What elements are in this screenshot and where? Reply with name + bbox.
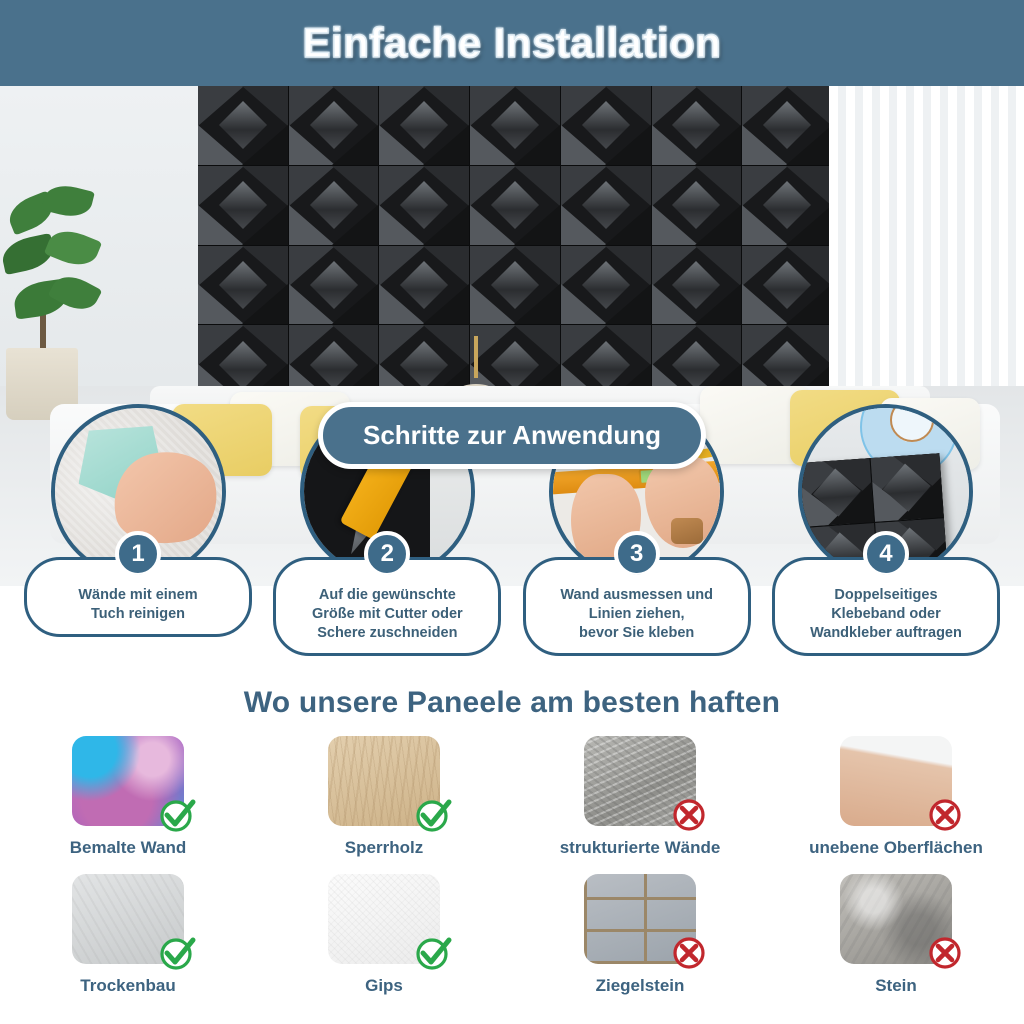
surface-item: Gips bbox=[256, 874, 512, 996]
surface-item: strukturierte Wände bbox=[512, 736, 768, 858]
caption-line: Wand ausmessen und bbox=[560, 586, 713, 605]
diamond-panel-tile bbox=[742, 86, 832, 165]
diamond-panel-tile bbox=[379, 86, 469, 165]
check-circle-icon bbox=[412, 932, 454, 974]
surface-label: Ziegelstein bbox=[596, 976, 685, 996]
diamond-panel-tile bbox=[289, 86, 379, 165]
step-1: 1 Wände mit einem Tuch reinigen bbox=[22, 404, 254, 654]
surface-label: Bemalte Wand bbox=[70, 838, 187, 858]
caption-line: bevor Sie kleben bbox=[560, 624, 713, 643]
surface-swatch-wrap bbox=[584, 736, 696, 826]
step-1-photo: 1 bbox=[51, 404, 226, 579]
hero-curtain bbox=[829, 86, 1024, 426]
diamond-panel-tile bbox=[470, 246, 560, 325]
surface-swatch-wrap bbox=[840, 874, 952, 964]
header-bar: Einfache Installation bbox=[0, 0, 1024, 86]
diamond-panel-tile bbox=[742, 166, 832, 245]
diamond-panel-tile bbox=[652, 166, 742, 245]
surface-swatch-wrap bbox=[328, 736, 440, 826]
caption-line: Größe mit Cutter oder bbox=[312, 605, 463, 624]
surface-item: Ziegelstein bbox=[512, 874, 768, 996]
step-3-number: 3 bbox=[614, 531, 660, 577]
x-circle-icon bbox=[668, 794, 710, 836]
surface-swatch-wrap bbox=[72, 736, 184, 826]
surface-item: Bemalte Wand bbox=[0, 736, 256, 858]
diamond-panel-tile bbox=[470, 86, 560, 165]
step-4-number: 4 bbox=[863, 531, 909, 577]
wristwatch-icon bbox=[671, 518, 703, 544]
caption-line: Wandkleber auftragen bbox=[810, 624, 962, 643]
surface-item: Sperrholz bbox=[256, 736, 512, 858]
diamond-panel-tile bbox=[198, 166, 288, 245]
check-circle-icon bbox=[412, 794, 454, 836]
diamond-panel-tile bbox=[561, 86, 651, 165]
caption-line: Tuch reinigen bbox=[78, 605, 197, 624]
surface-swatch-wrap bbox=[72, 874, 184, 964]
hero-3d-panel-wall bbox=[198, 86, 832, 404]
diamond-panel-tile bbox=[652, 246, 742, 325]
diamond-panel-tile bbox=[742, 246, 832, 325]
diamond-panel-tile bbox=[561, 166, 651, 245]
surface-label: Sperrholz bbox=[345, 838, 423, 858]
surfaces-grid: Bemalte WandSperrholzstrukturierte Wände… bbox=[0, 736, 1024, 996]
caption-line: Doppelseitiges bbox=[810, 586, 962, 605]
page-title: Einfache Installation bbox=[303, 19, 722, 67]
step-2-number: 2 bbox=[364, 531, 410, 577]
check-circle-icon bbox=[156, 794, 198, 836]
diamond-panel-tile bbox=[289, 246, 379, 325]
check-circle-icon bbox=[156, 932, 198, 974]
surface-label: unebene Oberflächen bbox=[809, 838, 983, 858]
surface-label: Stein bbox=[875, 976, 917, 996]
steps-badge: Schritte zur Anwendung bbox=[318, 402, 706, 469]
diamond-panel-grid bbox=[198, 86, 832, 404]
diamond-panel-tile bbox=[379, 246, 469, 325]
diamond-panel-tile bbox=[652, 86, 742, 165]
step-4: 4 Doppelseitiges Klebeband oder Wandkleb… bbox=[770, 404, 1002, 654]
step-4-photo: 4 bbox=[798, 404, 973, 579]
surface-swatch-wrap bbox=[328, 874, 440, 964]
caption-line: Auf die gewünschte bbox=[312, 586, 463, 605]
x-circle-icon bbox=[924, 794, 966, 836]
caption-line: Linien ziehen, bbox=[560, 605, 713, 624]
diamond-panel-tile bbox=[289, 166, 379, 245]
caption-line: Schere zuschneiden bbox=[312, 624, 463, 643]
diamond-panel-tile bbox=[379, 166, 469, 245]
surface-label: Gips bbox=[365, 976, 403, 996]
surface-swatch-wrap bbox=[584, 874, 696, 964]
diamond-panel-tile bbox=[198, 86, 288, 165]
step-1-number: 1 bbox=[115, 531, 161, 577]
x-circle-icon bbox=[668, 932, 710, 974]
caption-line: Klebeband oder bbox=[810, 605, 962, 624]
diamond-panel-tile bbox=[470, 166, 560, 245]
surface-swatch-wrap bbox=[840, 736, 952, 826]
surface-item: Stein bbox=[768, 874, 1024, 996]
x-circle-icon bbox=[924, 932, 966, 974]
diamond-panel-tile bbox=[198, 246, 288, 325]
surface-item: unebene Oberflächen bbox=[768, 736, 1024, 858]
surfaces-section-title: Wo unsere Paneele am besten haften bbox=[0, 686, 1024, 720]
surface-item: Trockenbau bbox=[0, 874, 256, 996]
caption-line: Wände mit einem bbox=[78, 586, 197, 605]
diamond-panel-tile bbox=[561, 246, 651, 325]
surface-label: strukturierte Wände bbox=[560, 838, 721, 858]
surface-label: Trockenbau bbox=[80, 976, 175, 996]
